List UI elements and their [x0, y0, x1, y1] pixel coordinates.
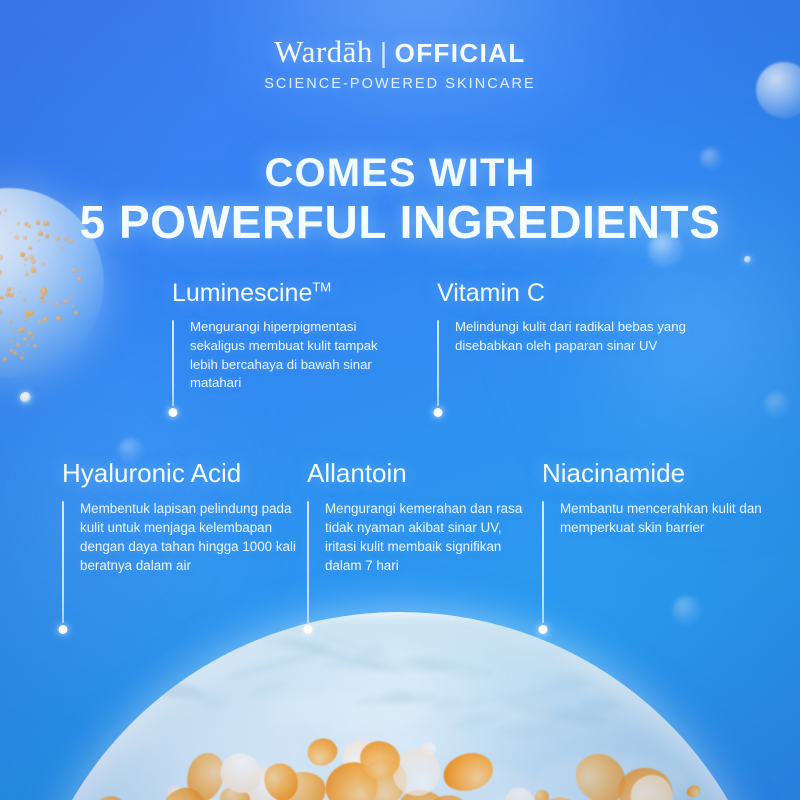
ingredient-body: Mengurangi kemerahan dan rasa tidak nyam… [307, 499, 531, 575]
ingredient-description: Membantu mencerahkan kulit dan memperkua… [560, 499, 768, 537]
ingredient-title: LuminescineTM [172, 280, 386, 306]
ingredient-name: Niacinamide [542, 458, 685, 488]
connector-dot [58, 625, 67, 634]
bubble-far-right [764, 392, 790, 418]
connector-dot [303, 625, 312, 634]
ingredient-niacinamide: Niacinamide Membantu mencerahkan kulit d… [542, 460, 768, 537]
bubble-lower-right [672, 596, 702, 626]
connector-line [172, 320, 174, 406]
connector-line [307, 501, 309, 623]
ingredient-body: Membantu mencerahkan kulit dan memperkua… [542, 499, 768, 537]
connector-dot [168, 408, 177, 417]
brand-official-label: OFFICIAL [395, 38, 526, 68]
hero-sphere-top-shading [50, 616, 749, 745]
brand-title-row: Wardāh|OFFICIAL [0, 36, 800, 69]
hero-sphere-body [20, 612, 780, 800]
ingredient-luminescine: LuminescineTM Mengurangi hiperpigmentasi… [172, 280, 386, 393]
ingredient-title: Niacinamide [542, 460, 768, 487]
connector-dot [433, 408, 442, 417]
ingredient-name: Hyaluronic Acid [62, 458, 241, 488]
spark-dot-left [20, 392, 31, 403]
ingredient-title: Allantoin [307, 460, 531, 487]
ingredient-allantoin: Allantoin Mengurangi kemerahan dan rasa … [307, 460, 531, 575]
ingredient-vitamin-c: Vitamin C Melindungi kulit dari radikal … [437, 280, 689, 356]
connector-dot [538, 625, 547, 634]
ingredient-description: Melindungi kulit dari radikal bebas yang… [455, 318, 689, 355]
trademark-mark: TM [312, 280, 331, 295]
ingredient-title: Hyaluronic Acid [62, 460, 298, 487]
brand-separator: | [380, 37, 388, 68]
brand-name: Wardāh [274, 34, 373, 69]
ingredient-hyaluronic-acid: Hyaluronic Acid Membentuk lapisan pelind… [62, 460, 298, 575]
ingredient-name: Luminescine [172, 279, 312, 307]
brand-header: Wardāh|OFFICIAL SCIENCE-POWERED SKINCARE [0, 36, 800, 92]
ingredient-description: Mengurangi hiperpigmentasi sekaligus mem… [190, 318, 386, 393]
connector-line [437, 320, 439, 406]
headline-line-1: COMES WITH [0, 152, 800, 195]
ingredient-body: Mengurangi hiperpigmentasi sekaligus mem… [172, 318, 386, 393]
connector-line [62, 501, 64, 623]
ingredient-name: Allantoin [307, 458, 407, 488]
ingredient-description: Membentuk lapisan pelindung pada kulit u… [80, 499, 298, 575]
vignette-overlay [0, 0, 800, 800]
ingredient-title: Vitamin C [437, 280, 689, 306]
ingredient-name: Vitamin C [437, 279, 545, 307]
hero-sphere [20, 612, 780, 800]
ingredient-body: Membentuk lapisan pelindung pada kulit u… [62, 499, 298, 575]
hero-sphere-rim [20, 612, 780, 800]
connector-line [542, 501, 544, 623]
headline-block: COMES WITH 5 POWERFUL INGREDIENTS [0, 152, 800, 249]
ingredient-body: Melindungi kulit dari radikal bebas yang… [437, 318, 689, 355]
ingredient-description: Mengurangi kemerahan dan rasa tidak nyam… [325, 499, 531, 575]
poster-canvas: Wardāh|OFFICIAL SCIENCE-POWERED SKINCARE… [0, 0, 800, 800]
headline-line-2: 5 POWERFUL INGREDIENTS [0, 197, 800, 249]
spark-dot-right [744, 256, 751, 263]
brand-tagline: SCIENCE-POWERED SKINCARE [0, 76, 800, 92]
